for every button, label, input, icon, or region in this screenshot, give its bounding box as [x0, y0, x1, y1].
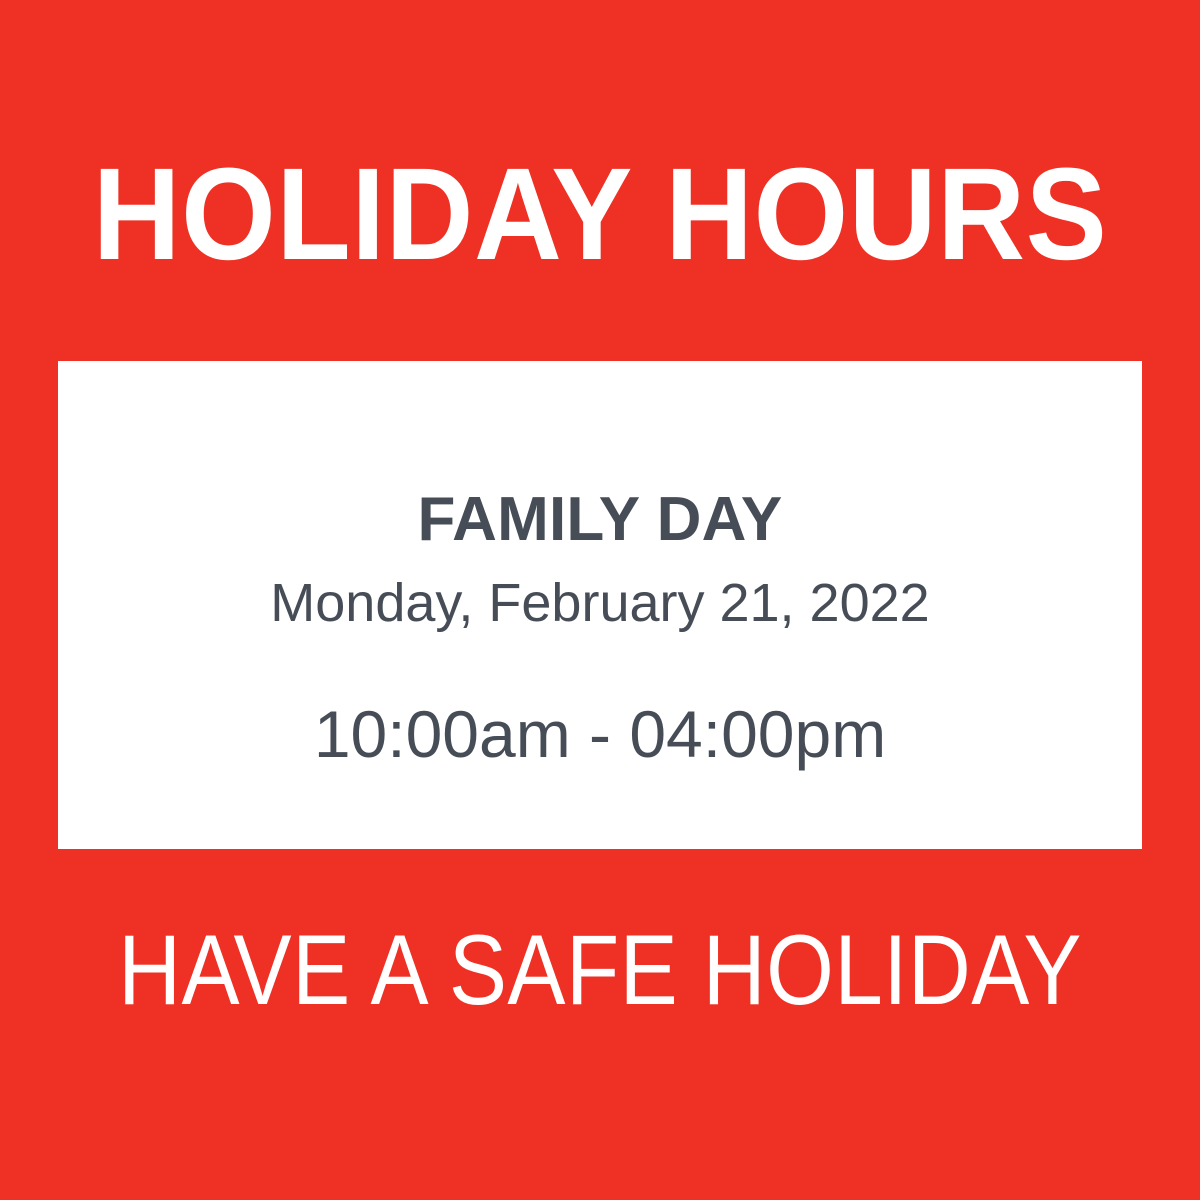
event-hours-row: 10:00am - 04:00pm — [58, 701, 1142, 767]
event-date: Monday, February 21, 2022 — [58, 576, 1142, 630]
holiday-info-card: FAMILY DAY Monday, February 21, 2022 10:… — [58, 361, 1142, 849]
event-name: FAMILY DAY — [58, 489, 1142, 551]
page-title: HOLIDAY HOURS — [42, 148, 1158, 279]
event-name-row: FAMILY DAY — [58, 489, 1142, 551]
event-hours: 10:00am - 04:00pm — [58, 701, 1142, 767]
footer-message: HAVE A SAFE HOLIDAY — [72, 920, 1128, 1019]
holiday-hours-poster: HOLIDAY HOURS FAMILY DAY Monday, Februar… — [0, 0, 1200, 1200]
event-date-row: Monday, February 21, 2022 — [58, 576, 1142, 630]
